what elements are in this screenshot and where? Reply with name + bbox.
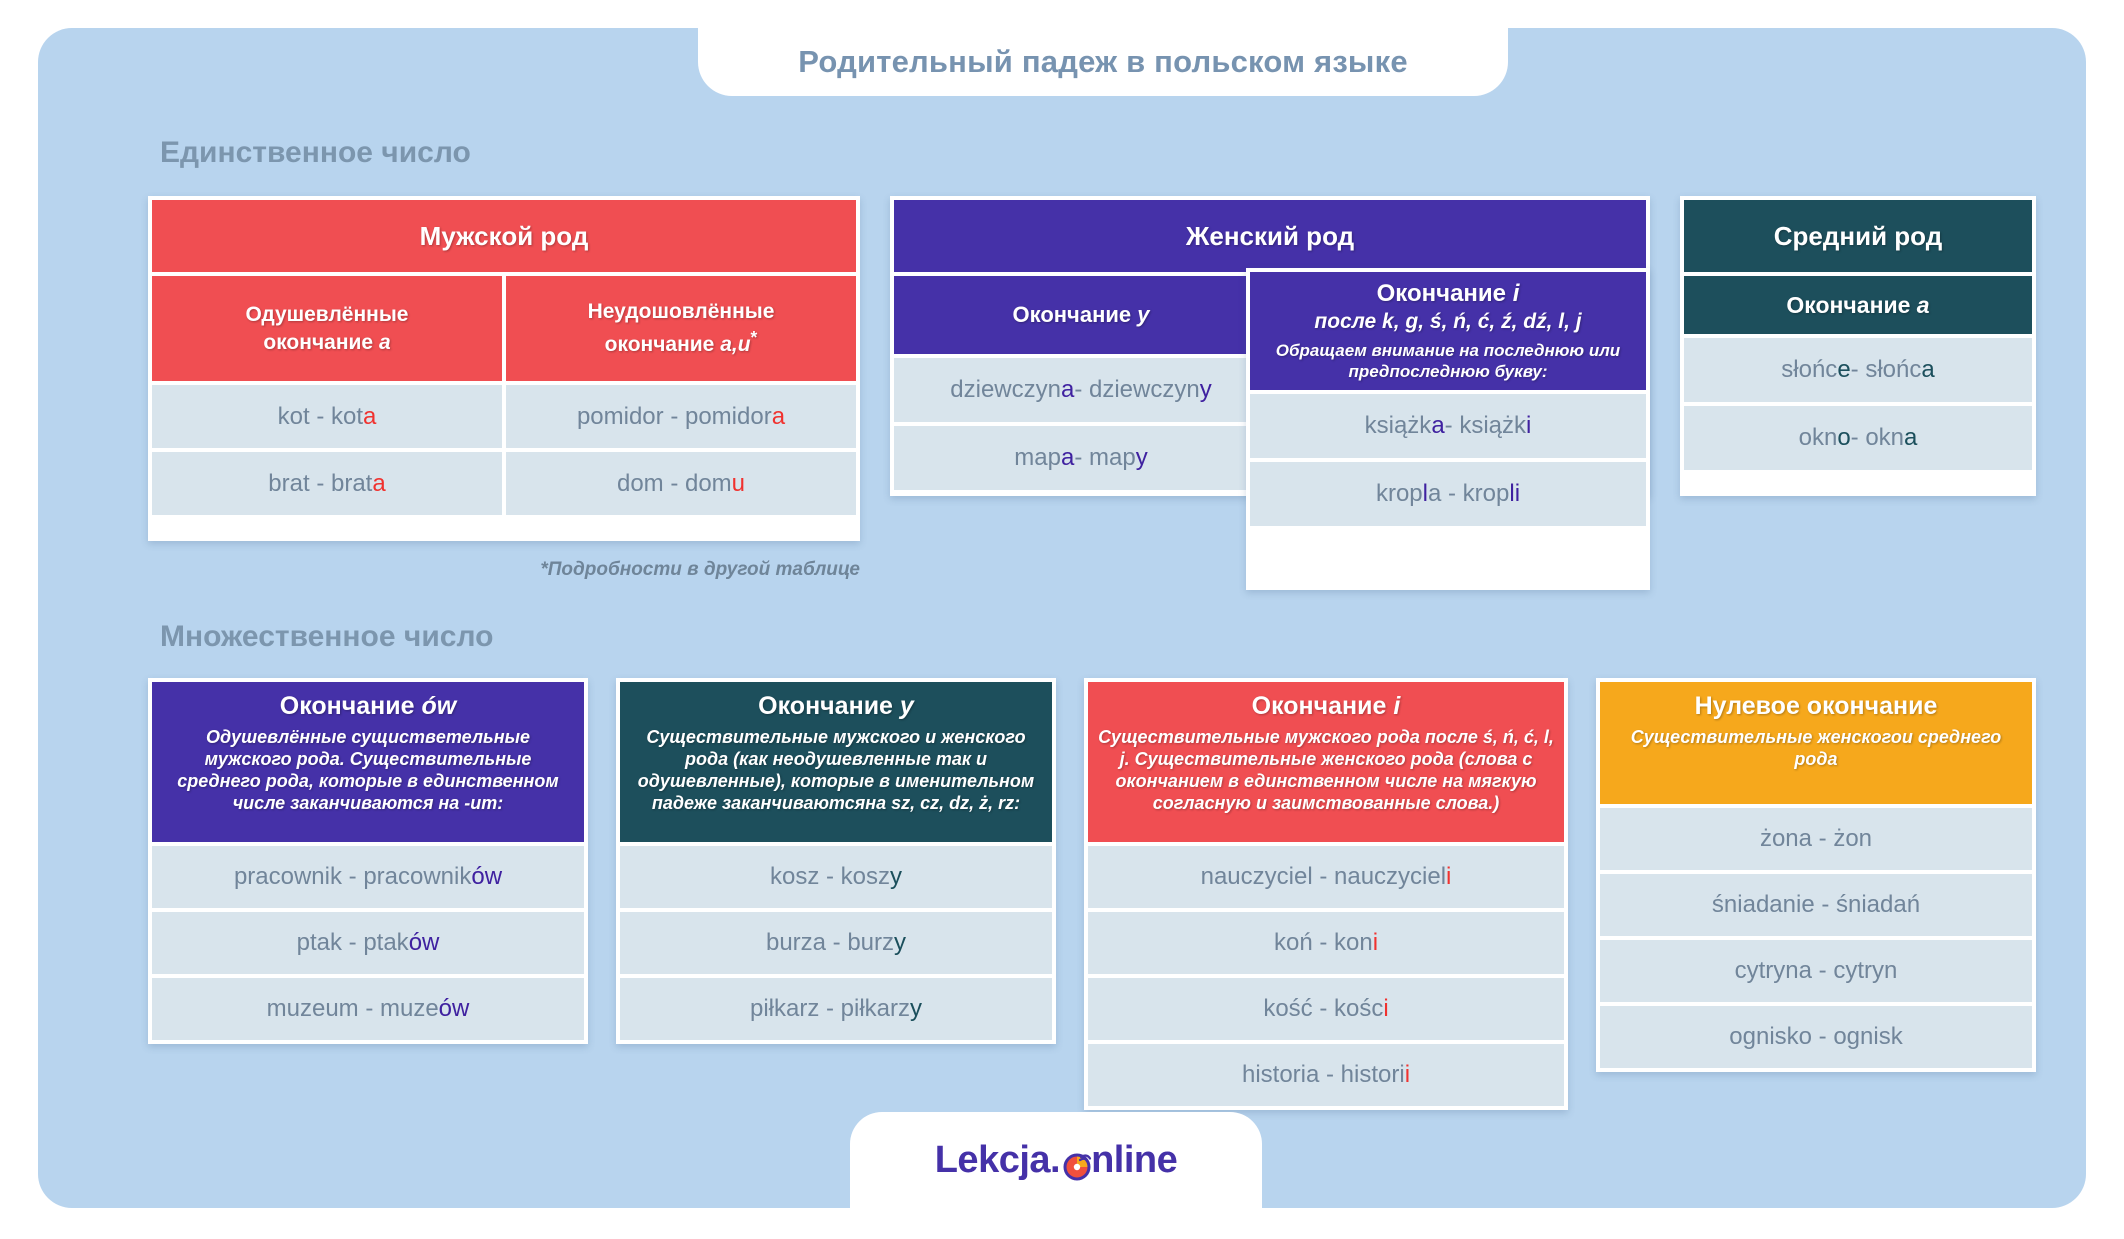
table-row: kość - kości (1088, 978, 1564, 1040)
table-row: historia - historii (1088, 1044, 1564, 1106)
logo-text-part1: Lekcja. (935, 1139, 1060, 1182)
table-row: brat - brata (152, 452, 502, 515)
card-masculine-singular: Мужской род Одушевлённые окончание a kot… (148, 196, 860, 541)
feminine-i-header: Окончание i после k, g, ś, ń, ć, ź, dź, … (1250, 272, 1646, 390)
table-row: dom - domu (506, 452, 856, 515)
plural-ow-header: Окончание ów Одушевлённые сущиствeтельны… (152, 682, 584, 842)
card-plural-zero: Нулевое окончание Существительные женско… (1596, 678, 2036, 1072)
plural-y-description: Существительные мужского и женского рода… (630, 727, 1042, 815)
masculine-inanimate-header: Неудошовлённые окончание a,u* (506, 276, 856, 381)
masculine-animate-header: Одушевлённые окончание a (152, 276, 502, 381)
plural-i-header: Окончание i Существительные мужского род… (1088, 682, 1564, 842)
table-row: muzeum - muzeów (152, 978, 584, 1040)
table-row: kropla - kropli (1250, 462, 1646, 526)
brand-logo: Lekcja. nline (935, 1139, 1178, 1182)
table-row: pracownik - pracowników (152, 846, 584, 908)
table-row: nauczyciel - nauczycieli (1088, 846, 1564, 908)
masculine-inanimate-subtitle: окончание a,u* (605, 326, 758, 359)
neuter-header: Средний род (1684, 200, 2032, 272)
card-plural-i: Окончание i Существительные мужского род… (1084, 678, 1568, 1110)
table-row: okno - okna (1684, 406, 2032, 470)
masculine-header: Мужской род (152, 200, 856, 272)
feminine-y-header: Окончание y (894, 276, 1268, 354)
table-row: ptak - ptaków (152, 912, 584, 974)
table-row: kot - kota (152, 385, 502, 448)
table-row: książka - książki (1250, 394, 1646, 458)
plural-zero-description: Существительные женскогои среднего рода (1610, 727, 2022, 771)
section-heading-plural: Множественное число (160, 620, 493, 654)
feminine-header: Женский род (894, 200, 1646, 272)
plural-ow-description: Одушевлённые сущиствeтельные мужского ро… (162, 727, 574, 815)
title-plate: Родительный падеж в польском языке (698, 28, 1508, 96)
card-feminine-ending-i: Окончание i после k, g, ś, ń, ć, ź, dź, … (1246, 268, 1650, 590)
masculine-animate-subtitle: окончание a (263, 329, 390, 357)
feminine-i-letters: после k, g, ś, ń, ć, ź, dź, l, j (1314, 310, 1581, 334)
page-title: Родительный падеж в польском языке (798, 44, 1408, 80)
masculine-animate-title: Одушевлённые (246, 301, 409, 329)
logo-text-part2: nline (1091, 1139, 1177, 1182)
plural-y-header: Окончание y Существительные мужского и ж… (620, 682, 1052, 842)
table-row: pomidor - pomidora (506, 385, 856, 448)
masculine-inanimate-title: Неудошовлённые (588, 298, 775, 326)
plural-zero-header: Нулевое окончание Существительные женско… (1600, 682, 2032, 804)
card-plural-ow: Окончание ów Одушевлённые сущиствeтельны… (148, 678, 588, 1044)
table-row: żona - żon (1600, 808, 2032, 870)
section-heading-singular: Единственное число (160, 136, 471, 170)
table-row: koń - koni (1088, 912, 1564, 974)
poster-background: Родительный падеж в польском языке Единс… (38, 28, 2086, 1208)
table-row: piłkarz - piłkarzy (620, 978, 1052, 1040)
logo-plate: Lekcja. nline (850, 1112, 1262, 1208)
table-row: dziewczyna - dziewczyny (894, 358, 1268, 422)
table-row: burza - burzy (620, 912, 1052, 974)
card-neuter-singular: Средний род Окончание a słońce - słońca … (1680, 196, 2036, 496)
table-row: śniadanie - śniadań (1600, 874, 2032, 936)
feminine-i-note: Обращаем внимание на последнюю или предп… (1260, 341, 1636, 382)
card-plural-y: Окончание y Существительные мужского и ж… (616, 678, 1056, 1044)
neuter-subheader: Окончание a (1684, 276, 2032, 334)
globe-signal-icon (1060, 1147, 1094, 1181)
masculine-footnote: *Подробности в другой таблице (504, 559, 860, 581)
table-row: kosz - koszy (620, 846, 1052, 908)
table-row: cytryna - cytryn (1600, 940, 2032, 1002)
table-row: mapa - mapy (894, 426, 1268, 490)
table-row: ognisko - ognisk (1600, 1006, 2032, 1068)
plural-i-description: Существительные мужского рода после ś, ń… (1098, 727, 1554, 815)
table-row: słońce - słońca (1684, 338, 2032, 402)
